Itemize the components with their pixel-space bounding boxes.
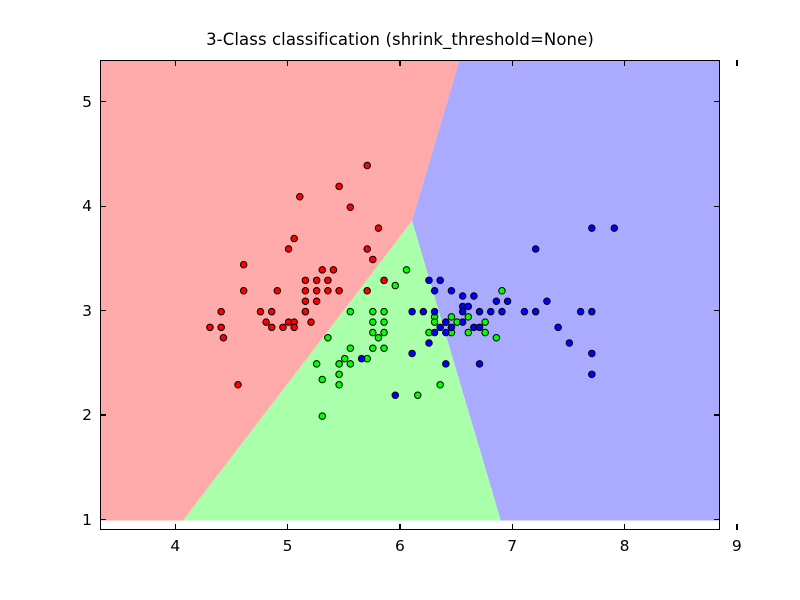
scatter-series-class-0 xyxy=(207,162,388,388)
y-tick-mark xyxy=(100,414,106,415)
data-point xyxy=(325,335,332,342)
data-point xyxy=(381,329,388,336)
data-point xyxy=(431,329,438,336)
plot-area xyxy=(101,61,719,529)
data-point xyxy=(240,288,247,295)
data-point xyxy=(336,371,343,378)
data-point xyxy=(375,335,382,342)
x-tick-mark xyxy=(624,524,625,530)
data-point xyxy=(347,204,354,211)
data-point xyxy=(302,308,309,315)
y-tick-label: 5 xyxy=(54,93,92,111)
data-point xyxy=(313,277,320,284)
data-point xyxy=(521,308,528,315)
data-point xyxy=(381,319,388,326)
data-point xyxy=(482,319,489,326)
y-tick-mark xyxy=(100,519,106,520)
data-point xyxy=(493,298,500,305)
data-point xyxy=(589,225,596,232)
data-point xyxy=(319,413,326,420)
data-point xyxy=(488,308,495,315)
x-tick-mark-top xyxy=(399,60,400,66)
data-point xyxy=(589,308,596,315)
data-point xyxy=(370,319,377,326)
data-point xyxy=(437,277,444,284)
data-point xyxy=(347,361,354,368)
data-point xyxy=(532,308,539,315)
data-point xyxy=(392,392,399,399)
y-tick-label: 2 xyxy=(54,406,92,424)
data-point xyxy=(448,314,455,321)
x-tick-mark xyxy=(287,524,288,530)
data-point xyxy=(370,345,377,352)
data-point xyxy=(291,324,298,331)
data-point xyxy=(325,277,332,284)
data-point xyxy=(476,324,483,331)
data-point xyxy=(437,382,444,389)
data-point xyxy=(336,361,343,368)
y-tick-label: 3 xyxy=(54,302,92,320)
data-point xyxy=(566,340,573,347)
plot-axes xyxy=(100,60,720,530)
data-point xyxy=(313,361,320,368)
figure-canvas: 3-Class classification (shrink_threshold… xyxy=(0,0,800,600)
data-point xyxy=(274,288,281,295)
data-point xyxy=(235,382,242,389)
data-point xyxy=(493,335,500,342)
data-point xyxy=(499,308,506,315)
y-tick-label: 4 xyxy=(54,197,92,215)
data-point xyxy=(482,329,489,336)
data-point xyxy=(364,288,371,295)
scatter-series-class-2 xyxy=(358,225,617,399)
data-point xyxy=(268,308,275,315)
data-point xyxy=(364,246,371,253)
data-point xyxy=(347,345,354,352)
data-point xyxy=(465,303,472,310)
data-point xyxy=(347,308,354,315)
data-point xyxy=(297,194,304,201)
data-point xyxy=(443,361,450,368)
y-tick-mark xyxy=(100,101,106,102)
data-point xyxy=(370,329,377,336)
y-tick-mark-right xyxy=(714,206,720,207)
data-point xyxy=(577,308,584,315)
data-point xyxy=(364,162,371,169)
data-point xyxy=(330,267,337,274)
data-point xyxy=(448,288,455,295)
y-tick-mark xyxy=(100,206,106,207)
data-point xyxy=(325,288,332,295)
y-tick-mark-right xyxy=(714,101,720,102)
data-point xyxy=(280,324,287,331)
y-tick-mark-right xyxy=(714,414,720,415)
x-tick-label: 5 xyxy=(283,537,293,555)
data-point xyxy=(426,340,433,347)
data-point xyxy=(499,288,506,295)
scatter-points-layer xyxy=(101,61,719,529)
data-point xyxy=(459,308,466,315)
x-tick-mark xyxy=(175,524,176,530)
x-tick-label: 7 xyxy=(507,537,517,555)
data-point xyxy=(381,308,388,315)
data-point xyxy=(341,355,348,362)
data-point xyxy=(370,308,377,315)
data-point xyxy=(589,350,596,357)
data-point xyxy=(381,345,388,352)
data-point xyxy=(476,308,483,315)
data-point xyxy=(370,256,377,263)
data-point xyxy=(471,293,478,300)
x-tick-label: 9 xyxy=(732,537,742,555)
data-point xyxy=(220,335,227,342)
data-point xyxy=(589,371,596,378)
data-point xyxy=(611,225,618,232)
data-point xyxy=(319,376,326,383)
data-point xyxy=(218,308,225,315)
data-point xyxy=(358,355,365,362)
data-point xyxy=(504,298,511,305)
data-point xyxy=(302,288,309,295)
data-point xyxy=(443,329,450,336)
data-point xyxy=(409,350,416,357)
data-point xyxy=(291,235,298,242)
data-point xyxy=(431,308,438,315)
data-point xyxy=(336,288,343,295)
data-point xyxy=(302,298,309,305)
x-tick-label: 4 xyxy=(170,537,180,555)
data-point xyxy=(319,267,326,274)
data-point xyxy=(313,298,320,305)
data-point xyxy=(459,293,466,300)
y-tick-label: 1 xyxy=(54,511,92,529)
x-tick-label: 6 xyxy=(395,537,405,555)
data-point xyxy=(465,314,472,321)
x-tick-mark-top xyxy=(175,60,176,66)
x-tick-label: 8 xyxy=(620,537,630,555)
data-point xyxy=(240,261,247,268)
data-point xyxy=(409,308,416,315)
y-tick-mark-right xyxy=(714,519,720,520)
data-point xyxy=(313,288,320,295)
data-point xyxy=(532,246,539,253)
x-tick-mark xyxy=(512,524,513,530)
data-point xyxy=(308,319,315,326)
data-point xyxy=(414,392,421,399)
data-point xyxy=(257,308,264,315)
data-point xyxy=(268,324,275,331)
x-tick-mark-top xyxy=(624,60,625,66)
data-point xyxy=(302,277,309,284)
data-point xyxy=(426,277,433,284)
data-point xyxy=(263,319,270,326)
data-point xyxy=(207,324,214,331)
data-point xyxy=(336,183,343,190)
data-point xyxy=(476,361,483,368)
data-point xyxy=(555,324,562,331)
data-point xyxy=(431,319,438,326)
data-point xyxy=(443,319,450,326)
x-tick-mark xyxy=(399,524,400,530)
data-point xyxy=(465,329,472,336)
data-point xyxy=(437,324,444,331)
data-point xyxy=(392,282,399,289)
x-tick-mark xyxy=(736,524,737,530)
page-title: 3-Class classification (shrink_threshold… xyxy=(0,30,800,49)
data-point xyxy=(448,324,455,331)
data-point xyxy=(381,277,388,284)
x-tick-mark-top xyxy=(512,60,513,66)
data-point xyxy=(459,319,466,326)
y-tick-mark-right xyxy=(714,310,720,311)
data-point xyxy=(336,382,343,389)
x-tick-mark-top xyxy=(287,60,288,66)
data-point xyxy=(420,308,427,315)
data-point xyxy=(285,246,292,253)
data-point xyxy=(431,288,438,295)
data-point xyxy=(403,267,410,274)
data-point xyxy=(218,324,225,331)
y-tick-mark xyxy=(100,310,106,311)
data-point xyxy=(375,225,382,232)
x-tick-mark-top xyxy=(736,60,737,66)
data-point xyxy=(544,298,551,305)
